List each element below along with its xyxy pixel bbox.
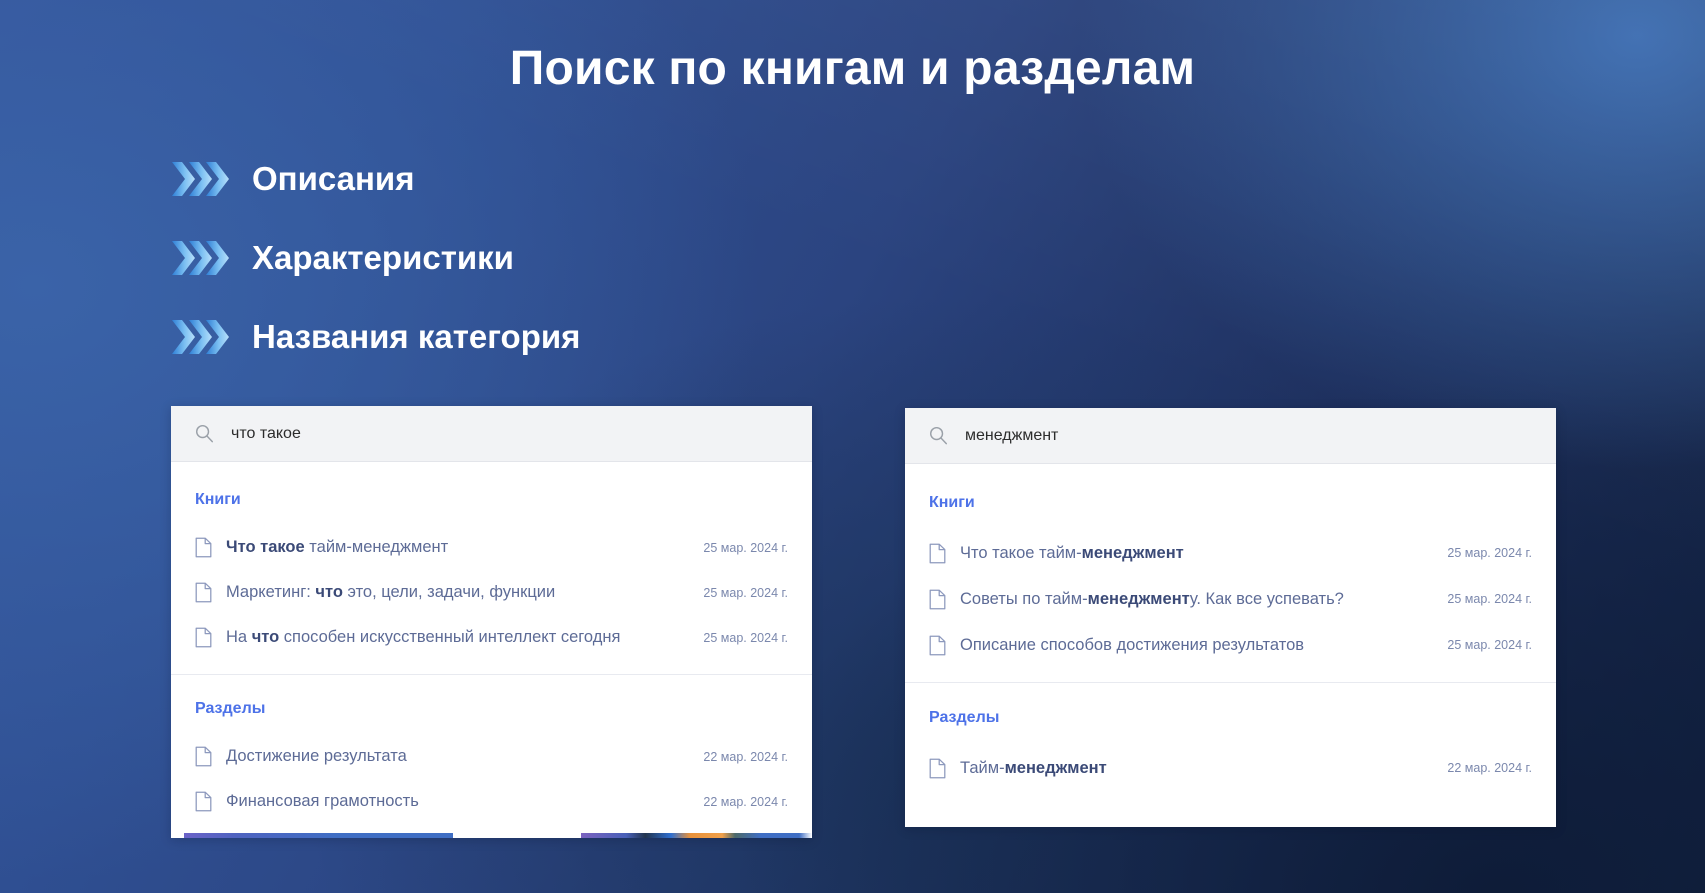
document-icon [195, 746, 212, 767]
result-title-suffix: способен искусственный интеллект сегодня [279, 628, 620, 646]
search-bar[interactable]: менеджмент [905, 408, 1556, 464]
result-title-prefix: Советы по тайм- [960, 590, 1088, 608]
result-item[interactable]: Описание способов достижения результатов… [905, 622, 1556, 668]
section-title: Разделы [171, 675, 812, 734]
feature-label: Описания [252, 160, 414, 198]
triple-chevron-icon [172, 241, 230, 275]
result-title-suffix: тайм-менеджмент [305, 538, 449, 556]
result-title[interactable]: Достижение результата [226, 747, 407, 766]
search-bar[interactable]: что такое [171, 406, 812, 462]
result-title-suffix: это, цели, задачи, функции [343, 583, 555, 601]
search-icon [195, 424, 214, 443]
search-panel-left: что такоеКнигиЧто такое тайм-менеджмент2… [171, 406, 812, 838]
section-title: Разделы [905, 683, 1556, 745]
search-results: КнигиЧто такое тайм-менеджмент25 мар. 20… [905, 464, 1556, 791]
feature-list: ОписанияХарактеристикиНазвания категория [172, 139, 892, 376]
result-date: 25 мар. 2024 г. [1433, 546, 1532, 560]
result-title-match: что [252, 628, 280, 646]
feature-item: Характеристики [172, 218, 892, 297]
result-title-prefix: Маркетинг: [226, 583, 315, 601]
feature-item: Названия категория [172, 297, 892, 376]
result-title-suffix: у. Как все успевать? [1190, 590, 1344, 608]
search-results: КнигиЧто такое тайм-менеджмент25 мар. 20… [171, 462, 812, 824]
triple-chevron-icon [172, 320, 230, 354]
result-item[interactable]: Советы по тайм-менеджменту. Как все успе… [905, 576, 1556, 622]
result-title[interactable]: Маркетинг: что это, цели, задачи, функци… [226, 583, 555, 602]
result-item[interactable]: Что такое тайм-менеджмент25 мар. 2024 г. [905, 530, 1556, 576]
panel-bottom-sliver [171, 833, 812, 838]
search-input[interactable]: менеджмент [965, 427, 1058, 445]
result-title-prefix: Достижение результата [226, 747, 407, 765]
result-date: 25 мар. 2024 г. [1433, 638, 1532, 652]
result-title[interactable]: Что такое тайм-менеджмент [960, 544, 1184, 563]
feature-label: Названия категория [252, 318, 580, 356]
result-title[interactable]: Описание способов достижения результатов [960, 636, 1304, 655]
result-item[interactable]: На что способен искусственный интеллект … [171, 615, 812, 660]
result-title-match: Что такое [226, 538, 305, 556]
result-title-prefix: Финансовая грамотность [226, 792, 419, 810]
feature-label: Характеристики [252, 239, 514, 277]
result-date: 25 мар. 2024 г. [689, 631, 788, 645]
triple-chevron-icon [172, 162, 230, 196]
result-title-match: менеджмент [1082, 544, 1184, 562]
result-title[interactable]: На что способен искусственный интеллект … [226, 628, 620, 647]
document-icon [929, 758, 946, 779]
result-title-match: менеджмент [1088, 590, 1190, 608]
document-icon [195, 791, 212, 812]
result-date: 22 мар. 2024 г. [1433, 761, 1532, 775]
result-item[interactable]: Маркетинг: что это, цели, задачи, функци… [171, 570, 812, 615]
document-icon [929, 635, 946, 656]
search-panel-right: менеджментКнигиЧто такое тайм-менеджмент… [905, 408, 1556, 827]
result-date: 22 мар. 2024 г. [689, 795, 788, 809]
result-title-prefix: На [226, 628, 252, 646]
document-icon [929, 543, 946, 564]
result-date: 25 мар. 2024 г. [1433, 592, 1532, 606]
result-title-match: менеджмент [1005, 759, 1107, 777]
search-input[interactable]: что такое [231, 425, 301, 443]
result-title-prefix: Описание способов достижения результатов [960, 636, 1304, 654]
section-title: Книги [905, 468, 1556, 530]
feature-item: Описания [172, 139, 892, 218]
result-date: 22 мар. 2024 г. [689, 750, 788, 764]
result-title-match: что [315, 583, 343, 601]
result-title[interactable]: Финансовая грамотность [226, 792, 419, 811]
result-title-prefix: Что такое тайм- [960, 544, 1082, 562]
document-icon [195, 627, 212, 648]
result-item[interactable]: Что такое тайм-менеджмент25 мар. 2024 г. [171, 525, 812, 570]
document-icon [195, 537, 212, 558]
result-title[interactable]: Советы по тайм-менеджменту. Как все успе… [960, 590, 1344, 609]
result-item[interactable]: Финансовая грамотность22 мар. 2024 г. [171, 779, 812, 824]
result-title-prefix: Тайм- [960, 759, 1005, 777]
result-date: 25 мар. 2024 г. [689, 541, 788, 555]
section-title: Книги [171, 466, 812, 525]
result-title[interactable]: Что такое тайм-менеджмент [226, 538, 448, 557]
document-icon [195, 582, 212, 603]
page-title: Поиск по книгам и разделам [0, 42, 1705, 96]
result-item[interactable]: Тайм-менеджмент22 мар. 2024 г. [905, 745, 1556, 791]
search-icon [929, 426, 948, 445]
result-title[interactable]: Тайм-менеджмент [960, 759, 1107, 778]
result-date: 25 мар. 2024 г. [689, 586, 788, 600]
document-icon [929, 589, 946, 610]
result-item[interactable]: Достижение результата22 мар. 2024 г. [171, 734, 812, 779]
